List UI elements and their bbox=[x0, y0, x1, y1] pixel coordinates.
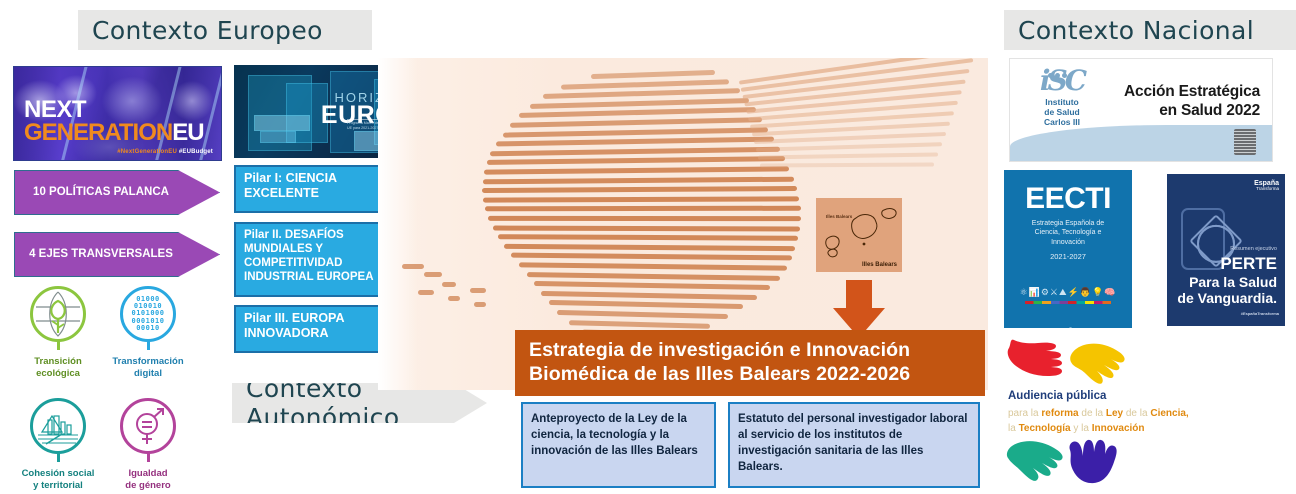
chevron-label: Pilar II. DESAFÍOS MUNDIALES Y COMPETITI… bbox=[234, 222, 442, 284]
map-stripe bbox=[483, 196, 799, 202]
map-stripe bbox=[442, 282, 456, 287]
map-stripe bbox=[510, 117, 762, 128]
axis-caption: Transformación digital bbox=[100, 356, 196, 379]
he-decor-block bbox=[260, 131, 296, 143]
chevron-politicas-palanca[interactable]: 10 POLÍTICAS PALANCA bbox=[14, 170, 220, 215]
map-stripe bbox=[488, 216, 801, 221]
strategy-title-line2: Biomédica de las Illes Balears 2022-2026 bbox=[529, 363, 985, 387]
map-stripe bbox=[557, 310, 728, 319]
section-header-contexto-europeo: Contexto Europeo bbox=[78, 10, 372, 50]
binary-digits-text: 01000 010010 0101000 0001010 00010 bbox=[123, 289, 173, 339]
audiencia-subtitle: para la reforma de la Ley de la Ciencia,… bbox=[1008, 406, 1228, 436]
axis-caption-line2: ecológica bbox=[36, 368, 80, 379]
axis-transformacion-digital: 01000 010010 0101000 0001010 00010 Trans… bbox=[100, 286, 196, 379]
map-stripe bbox=[504, 244, 795, 251]
ngeu-line-next: NEXT bbox=[24, 98, 204, 121]
law-box-estatuto[interactable]: Estatuto del personal investigador labor… bbox=[728, 402, 980, 488]
slide-root: Contexto Europeo Contexto Nacional Conte… bbox=[0, 0, 1296, 494]
audiencia-title: Audiencia pública bbox=[1008, 390, 1106, 402]
ngeu-line-eu: EU bbox=[172, 119, 203, 146]
ngeu-hashtag-primary: #NextGenerationEU bbox=[117, 149, 177, 155]
map-stripe bbox=[534, 281, 770, 290]
map-stripe bbox=[418, 290, 434, 295]
axis-pin bbox=[57, 340, 60, 350]
ngeu-line-generation: GENERATION bbox=[24, 119, 172, 146]
chevron-label: 10 POLÍTICAS PALANCA bbox=[33, 186, 201, 200]
chevron-label: Pilar I: CIENCIA EXCELENTE bbox=[234, 165, 442, 202]
strategy-title-banner: Estrategia de investigación e Innovación… bbox=[515, 330, 985, 396]
isciii-accion-estrategica-card: iSC Instituto de Salud Carlos III Acción… bbox=[1009, 58, 1273, 162]
axis-caption-line1: Transición bbox=[34, 356, 82, 367]
binary-digits-icon: 01000 010010 0101000 0001010 00010 bbox=[120, 286, 176, 342]
eecti-pictogram-row: ⚛📊⚙⚔⛰⚡👨💡🧠 bbox=[1004, 287, 1132, 298]
axis-caption: Transición ecológica bbox=[10, 356, 106, 379]
arrow-shaft bbox=[846, 280, 872, 310]
audiencia-publica-graphic: Audiencia pública para la reforma de la … bbox=[1002, 338, 1232, 488]
isciii-title-line2: en Salud 2022 bbox=[1159, 102, 1260, 119]
map-arc bbox=[758, 152, 938, 159]
map-stripe bbox=[569, 320, 710, 329]
eecti-acronym: EECTI bbox=[1004, 184, 1132, 214]
axis-caption-line1: Igualdad bbox=[128, 468, 167, 479]
axis-pin bbox=[57, 452, 60, 462]
map-stripe bbox=[541, 291, 757, 300]
axis-caption-line1: Transformación bbox=[112, 356, 183, 367]
eecti-years: 2021-2027 bbox=[1004, 252, 1132, 261]
spain-coat-of-arms-icon bbox=[1234, 129, 1256, 155]
map-stripe bbox=[549, 300, 743, 309]
axis-caption-line2: de género bbox=[125, 480, 170, 491]
map-stripe bbox=[519, 262, 787, 270]
eecti-card[interactable]: EECTI Estrategia Española de Ciencia, Te… bbox=[1004, 170, 1132, 328]
perte-card[interactable]: España Transforma Resumen ejecutivo PERT… bbox=[1167, 174, 1285, 326]
city-landscape-icon bbox=[30, 398, 86, 454]
axis-caption: Igualdad de género bbox=[100, 468, 196, 491]
map-stripe bbox=[474, 302, 486, 307]
tree-globe-icon bbox=[30, 286, 86, 342]
perte-acronym: PERTE bbox=[1173, 254, 1277, 274]
map-stripe bbox=[493, 225, 800, 231]
next-generation-eu-banner: NEXT GENERATIONEU #NextGenerationEU #EUB… bbox=[13, 66, 222, 161]
map-stripe bbox=[482, 186, 797, 193]
chevron-label: 4 EJES TRANSVERSALES bbox=[29, 248, 205, 262]
ngeu-hashtags: #NextGenerationEU #EUBudget bbox=[117, 149, 213, 155]
he-decor-block bbox=[254, 115, 310, 131]
perte-subtitle: Para la Salud de Vanguardia. bbox=[1173, 274, 1277, 306]
inset-label-main: Illes Balears bbox=[862, 262, 897, 268]
axis-caption-line2: digital bbox=[134, 368, 162, 379]
isciii-logo-name: Instituto de Salud Carlos III bbox=[1026, 97, 1098, 127]
map-stripe bbox=[561, 79, 729, 89]
eecti-subtitle: Estrategia Española de Ciencia, Tecnolog… bbox=[1004, 219, 1132, 247]
isciii-logo: iSC Instituto de Salud Carlos III bbox=[1026, 67, 1098, 127]
hand-icon-purple bbox=[1064, 436, 1122, 486]
inset-label-small: Illes Balears bbox=[826, 214, 852, 219]
map-stripe bbox=[498, 234, 798, 241]
map-stripe bbox=[511, 253, 792, 261]
map-stripe bbox=[519, 107, 756, 118]
illes-balears-inset: Illes Balears Illes Balears bbox=[816, 198, 902, 272]
map-stripe bbox=[591, 70, 715, 79]
map-stripe bbox=[470, 288, 486, 293]
axis-cohesion-social-territorial: Cohesión social y territorial bbox=[10, 398, 106, 491]
hand-icon-yellow bbox=[1066, 340, 1128, 392]
axis-pin bbox=[147, 452, 150, 462]
ngeu-hashtag-secondary: #EUBudget bbox=[177, 149, 213, 155]
hand-icon-green bbox=[1004, 436, 1066, 486]
ngeu-wordmark: NEXT GENERATIONEU bbox=[24, 98, 204, 144]
map-stripe bbox=[526, 272, 779, 281]
perte-hashtag: #EspañaTransforma bbox=[1241, 311, 1279, 316]
axis-caption-line2: y territorial bbox=[33, 480, 83, 491]
axis-caption: Cohesión social y territorial bbox=[10, 468, 106, 491]
map-stripe bbox=[485, 206, 801, 211]
axis-transicion-ecologica: Transición ecológica bbox=[10, 286, 106, 379]
gender-equality-icon bbox=[120, 398, 176, 454]
isciii-logo-dots bbox=[1048, 65, 1069, 83]
map-stripe bbox=[448, 296, 460, 301]
map-arc bbox=[760, 163, 934, 168]
hand-icon-red bbox=[1004, 338, 1066, 390]
law-box-anteproyecto[interactable]: Anteproyecto de la Ley de la ciencia, la… bbox=[521, 402, 716, 488]
isciii-wave-decor bbox=[1010, 125, 1272, 161]
isciii-title-line1: Acción Estratégica bbox=[1124, 83, 1260, 100]
perte-kicker: Resumen ejecutivo bbox=[1177, 246, 1277, 252]
isciii-title: Acción Estratégica en Salud 2022 bbox=[1124, 83, 1260, 121]
map-stripe bbox=[543, 88, 740, 99]
map-arc bbox=[756, 142, 942, 152]
espana-transforma-logo: España Transforma bbox=[1254, 180, 1279, 192]
chevron-label: Pilar III. EUROPA INNOVADORA bbox=[234, 305, 442, 342]
eecti-color-bar bbox=[1025, 301, 1111, 304]
section-header-contexto-nacional: Contexto Nacional bbox=[1004, 10, 1296, 50]
map-arc-decoration bbox=[728, 58, 988, 178]
perte-footer: #EspañaTransforma bbox=[1241, 310, 1279, 316]
axis-caption-line1: Cohesión social bbox=[22, 468, 95, 479]
strategy-title-line1: Estrategia de investigación e Innovación bbox=[529, 339, 985, 363]
chevron-ejes-transversales[interactable]: 4 EJES TRANSVERSALES bbox=[14, 232, 220, 277]
axis-pin bbox=[147, 340, 150, 350]
axis-igualdad-de-genero: Igualdad de género bbox=[100, 398, 196, 491]
